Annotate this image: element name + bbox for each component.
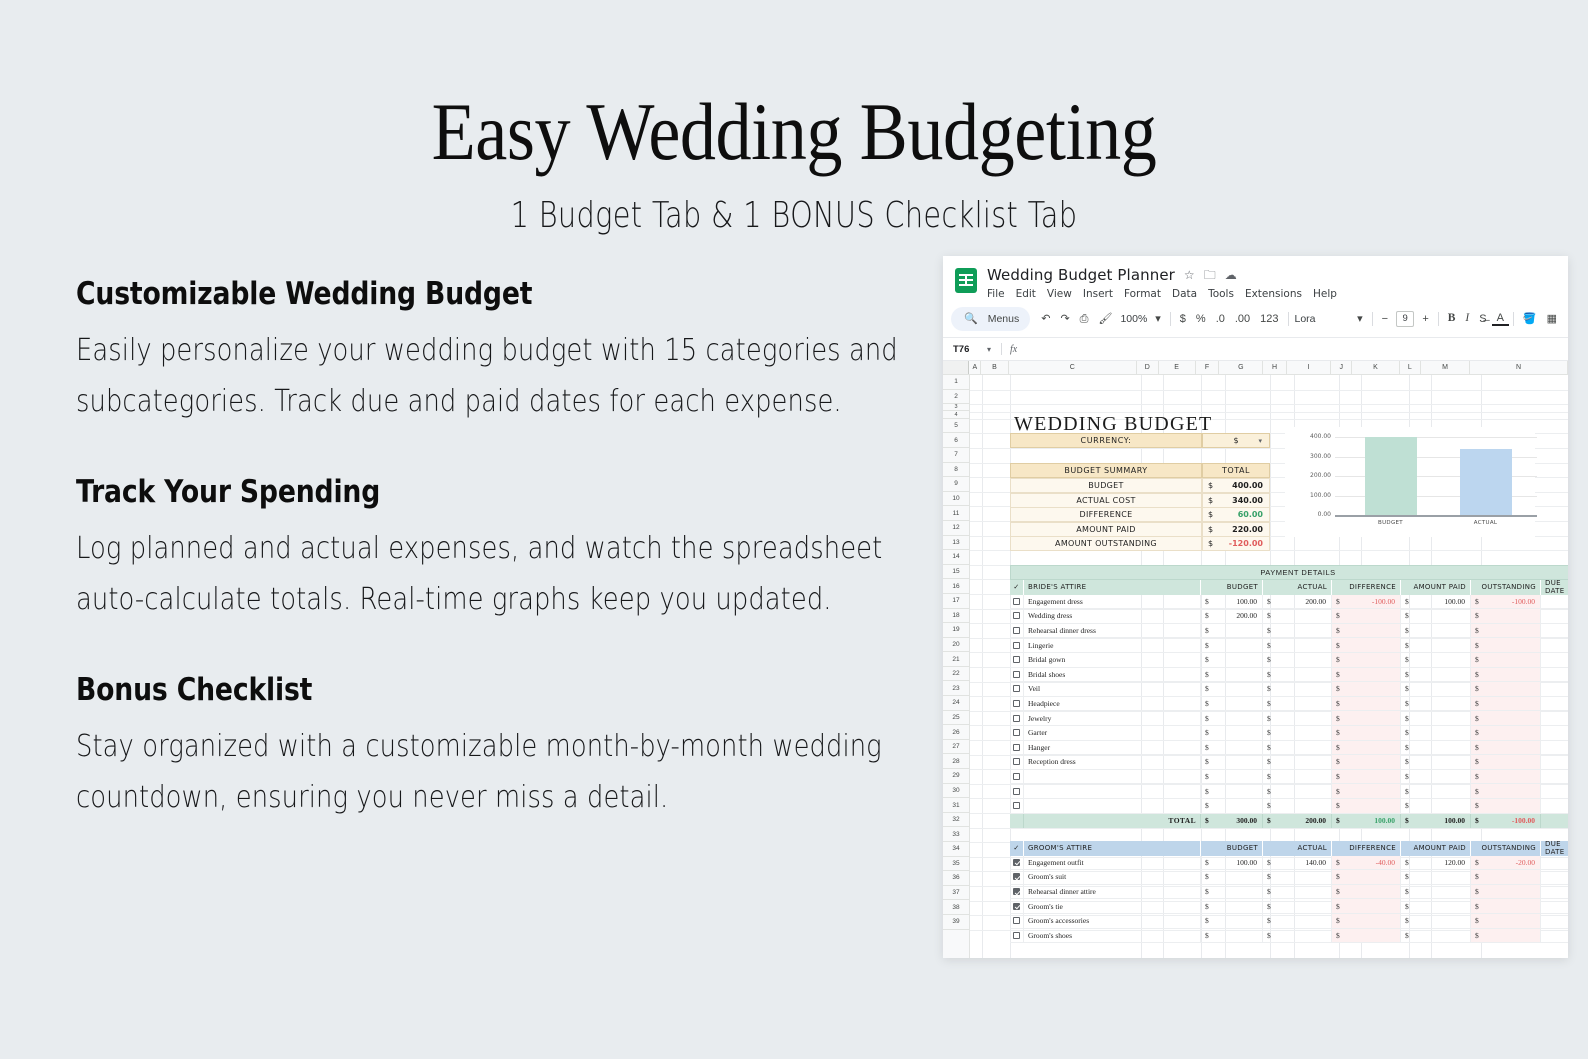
cell-difference[interactable]: $ xyxy=(1332,726,1401,740)
cell-actual[interactable]: $ xyxy=(1263,914,1332,928)
column-header-k[interactable]: K xyxy=(1352,361,1399,374)
cell-outstanding[interactable]: $ xyxy=(1471,609,1541,623)
row-header-11[interactable]: 11 xyxy=(943,506,969,521)
chevron-down-icon[interactable]: ▾ xyxy=(1352,314,1368,325)
cell-outstanding[interactable]: $ xyxy=(1471,899,1541,913)
row-header-22[interactable]: 22 xyxy=(943,667,969,682)
cell-item-name[interactable]: Rehearsal dinner attire xyxy=(1024,885,1201,899)
row-header-14[interactable]: 14 xyxy=(943,550,969,565)
cell-amount-paid[interactable]: $ xyxy=(1401,682,1471,696)
cell-due-date[interactable] xyxy=(1541,929,1568,943)
cell-item-name[interactable]: Veil xyxy=(1024,682,1201,696)
table-row[interactable]: Engagement dress$100.00$200.00$-100.00$1… xyxy=(1010,595,1568,610)
row-checkbox[interactable] xyxy=(1010,697,1024,711)
row-header-15[interactable]: 15 xyxy=(943,565,969,580)
cell-amount-paid[interactable]: $ xyxy=(1401,624,1471,638)
checkbox-icon[interactable] xyxy=(1013,758,1020,765)
table-row[interactable]: Hanger$$$$$ xyxy=(1010,741,1568,756)
cell-item-name[interactable]: Groom's suit xyxy=(1024,870,1201,884)
cell-due-date[interactable] xyxy=(1541,609,1568,623)
table-row[interactable]: Lingerie$$$$$ xyxy=(1010,638,1568,653)
cell-item-name[interactable] xyxy=(1024,784,1201,798)
cell-outstanding[interactable]: $ xyxy=(1471,770,1541,784)
cell-outstanding[interactable]: $ xyxy=(1471,885,1541,899)
row-header-32[interactable]: 32 xyxy=(943,813,969,828)
row-checkbox[interactable] xyxy=(1010,595,1024,609)
table-row[interactable]: Headpiece$$$$$ xyxy=(1010,697,1568,712)
cell-item-name[interactable]: Hanger xyxy=(1024,741,1201,755)
row-header-37[interactable]: 37 xyxy=(943,886,969,901)
row-checkbox[interactable] xyxy=(1010,770,1024,784)
cell-actual[interactable]: $200.00 xyxy=(1263,595,1332,609)
cell-item-name[interactable]: Rehearsal dinner dress xyxy=(1024,624,1201,638)
cell-amount-paid[interactable]: $ xyxy=(1401,885,1471,899)
redo-icon[interactable]: ↷ xyxy=(1055,314,1074,325)
row-checkbox[interactable] xyxy=(1010,624,1024,638)
cell-difference[interactable]: $ xyxy=(1332,899,1401,913)
row-header-31[interactable]: 31 xyxy=(943,798,969,813)
cell-outstanding[interactable]: $-20.00 xyxy=(1471,856,1541,870)
cell-item-name[interactable]: Lingerie xyxy=(1024,638,1201,652)
row-header-21[interactable]: 21 xyxy=(943,652,969,667)
currency-select[interactable]: $ ▾ xyxy=(1202,433,1270,448)
row-header-39[interactable]: 39 xyxy=(943,915,969,930)
checkbox-icon[interactable] xyxy=(1013,773,1020,780)
table-row[interactable]: Bridal gown$$$$$ xyxy=(1010,653,1568,668)
cell-amount-paid[interactable]: $ xyxy=(1401,914,1471,928)
checkbox-icon[interactable] xyxy=(1013,627,1020,634)
row-header-19[interactable]: 19 xyxy=(943,623,969,638)
cell-outstanding[interactable]: $ xyxy=(1471,638,1541,652)
move-to-folder-icon[interactable]: 🗀 xyxy=(1204,269,1216,281)
cell-actual[interactable]: $ xyxy=(1263,638,1332,652)
cell-difference[interactable]: $ xyxy=(1332,653,1401,667)
column-header-l[interactable]: L xyxy=(1400,361,1422,374)
row-header-18[interactable]: 18 xyxy=(943,609,969,624)
table-row[interactable]: Jewelry$$$$$ xyxy=(1010,711,1568,726)
cell-budget[interactable]: $ xyxy=(1201,929,1263,943)
decrease-decimal-icon[interactable]: .0 xyxy=(1211,314,1230,325)
cell-item-name[interactable]: Groom's shoes xyxy=(1024,929,1201,943)
row-header-24[interactable]: 24 xyxy=(943,696,969,711)
row-checkbox[interactable] xyxy=(1010,711,1024,725)
cell-difference[interactable]: $ xyxy=(1332,885,1401,899)
cell-budget[interactable]: $100.00 xyxy=(1201,856,1263,870)
cell-actual[interactable]: $ xyxy=(1263,770,1332,784)
borders-icon[interactable]: ▦ xyxy=(1542,314,1562,325)
cell-due-date[interactable] xyxy=(1541,899,1568,913)
cell-outstanding[interactable]: $ xyxy=(1471,929,1541,943)
cell-item-name[interactable]: Bridal gown xyxy=(1024,653,1201,667)
menu-item-file[interactable]: File xyxy=(987,288,1005,300)
cell-budget[interactable]: $100.00 xyxy=(1201,595,1263,609)
cell-actual[interactable]: $ xyxy=(1263,682,1332,696)
cell-actual[interactable]: $ xyxy=(1263,899,1332,913)
budget-vs-actual-chart[interactable]: 0.00100.00200.00300.00400.00BUDGETACTUAL xyxy=(1285,427,1535,537)
cell-amount-paid[interactable]: $ xyxy=(1401,741,1471,755)
cell-difference[interactable]: $ xyxy=(1332,755,1401,769)
table-row[interactable]: Groom's accessories$$$$$ xyxy=(1010,914,1568,929)
cell-amount-paid[interactable]: $ xyxy=(1401,711,1471,725)
cell-budget[interactable]: $ xyxy=(1201,770,1263,784)
menu-item-format[interactable]: Format xyxy=(1124,288,1161,300)
row-checkbox[interactable] xyxy=(1010,668,1024,682)
cell-due-date[interactable] xyxy=(1541,653,1568,667)
chevron-down-icon[interactable]: ▾ xyxy=(1150,314,1166,325)
row-checkbox[interactable] xyxy=(1010,638,1024,652)
table-row[interactable]: Garter$$$$$ xyxy=(1010,726,1568,741)
cell-difference[interactable]: $ xyxy=(1332,697,1401,711)
cell-actual[interactable]: $ xyxy=(1263,726,1332,740)
font-family-select[interactable]: Lora xyxy=(1292,313,1352,325)
cell-actual[interactable]: $ xyxy=(1263,653,1332,667)
cell-budget[interactable]: $ xyxy=(1201,697,1263,711)
cell-budget[interactable]: $ xyxy=(1201,624,1263,638)
table-row[interactable]: Reception dress$$$$$ xyxy=(1010,755,1568,770)
row-header-1[interactable]: 1 xyxy=(943,375,969,390)
row-checkbox[interactable] xyxy=(1010,784,1024,798)
cell-budget[interactable]: $ xyxy=(1201,755,1263,769)
paint-format-icon[interactable]: 🖌 xyxy=(1093,314,1117,325)
cell-outstanding[interactable]: $ xyxy=(1471,711,1541,725)
row-header-5[interactable]: 5 xyxy=(943,419,969,434)
percent-format-icon[interactable]: % xyxy=(1191,314,1211,325)
menu-item-insert[interactable]: Insert xyxy=(1083,288,1113,300)
strikethrough-button[interactable]: S̶ xyxy=(1474,314,1491,325)
cell-due-date[interactable] xyxy=(1541,870,1568,884)
cell-budget[interactable]: $ xyxy=(1201,870,1263,884)
table-row[interactable]: $$$$$ xyxy=(1010,784,1568,799)
checkbox-icon[interactable] xyxy=(1013,685,1020,692)
checkbox-icon[interactable] xyxy=(1013,671,1020,678)
cell-outstanding[interactable]: $-100.00 xyxy=(1471,595,1541,609)
cell-budget[interactable]: $ xyxy=(1201,741,1263,755)
increase-decimal-icon[interactable]: .00 xyxy=(1230,314,1255,325)
row-header-27[interactable]: 27 xyxy=(943,740,969,755)
row-header-17[interactable]: 17 xyxy=(943,594,969,609)
cell-item-name[interactable]: Wedding dress xyxy=(1024,609,1201,623)
cell-amount-paid[interactable]: $120.00 xyxy=(1401,856,1471,870)
checkbox-icon[interactable] xyxy=(1013,656,1020,663)
cell-outstanding[interactable]: $ xyxy=(1471,784,1541,798)
column-header-m[interactable]: M xyxy=(1421,361,1470,374)
table-row[interactable]: Groom's suit$$$$$ xyxy=(1010,870,1568,885)
star-icon[interactable]: ☆ xyxy=(1184,269,1195,281)
cell-difference[interactable]: $-40.00 xyxy=(1332,856,1401,870)
cell-difference[interactable]: $ xyxy=(1332,609,1401,623)
cell-item-name[interactable]: Groom's accessories xyxy=(1024,914,1201,928)
cell-due-date[interactable] xyxy=(1541,856,1568,870)
cell-difference[interactable]: $ xyxy=(1332,929,1401,943)
row-checkbox[interactable] xyxy=(1010,914,1024,928)
table-row[interactable]: Rehearsal dinner attire$$$$$ xyxy=(1010,885,1568,900)
column-header-j[interactable]: J xyxy=(1331,361,1353,374)
cell-due-date[interactable] xyxy=(1541,741,1568,755)
cell-actual[interactable]: $ xyxy=(1263,609,1332,623)
currency-format-icon[interactable]: $ xyxy=(1175,314,1191,325)
cell-outstanding[interactable]: $ xyxy=(1471,653,1541,667)
checkbox-icon[interactable] xyxy=(1013,873,1020,880)
column-header-b[interactable]: B xyxy=(981,361,1008,374)
cell-outstanding[interactable]: $ xyxy=(1471,682,1541,696)
cell-difference[interactable]: $ xyxy=(1332,799,1401,813)
cell-item-name[interactable] xyxy=(1024,799,1201,813)
row-header-25[interactable]: 25 xyxy=(943,711,969,726)
decrease-font-size-button[interactable]: − xyxy=(1377,314,1393,325)
cell-actual[interactable]: $ xyxy=(1263,741,1332,755)
cell-due-date[interactable] xyxy=(1541,697,1568,711)
row-checkbox[interactable] xyxy=(1010,885,1024,899)
row-checkbox[interactable] xyxy=(1010,653,1024,667)
column-header-h[interactable]: H xyxy=(1263,361,1287,374)
cell-budget[interactable]: $ xyxy=(1201,899,1263,913)
cell-amount-paid[interactable]: $ xyxy=(1401,899,1471,913)
cell-budget[interactable]: $ xyxy=(1201,784,1263,798)
checkbox-icon[interactable] xyxy=(1013,788,1020,795)
checkbox-icon[interactable] xyxy=(1013,888,1020,895)
cell-item-name[interactable]: Engagement outfit xyxy=(1024,856,1201,870)
checkbox-icon[interactable] xyxy=(1013,744,1020,751)
row-checkbox[interactable] xyxy=(1010,870,1024,884)
cell-item-name[interactable] xyxy=(1024,770,1201,784)
cell-actual[interactable]: $ xyxy=(1263,668,1332,682)
cell-item-name[interactable]: Jewelry xyxy=(1024,711,1201,725)
table-row[interactable]: Groom's tie$$$$$ xyxy=(1010,899,1568,914)
cell-budget[interactable]: $ xyxy=(1201,638,1263,652)
checkbox-icon[interactable] xyxy=(1013,729,1020,736)
cell-difference[interactable]: $ xyxy=(1332,624,1401,638)
cell-item-name[interactable]: Engagement dress xyxy=(1024,595,1201,609)
row-checkbox[interactable] xyxy=(1010,609,1024,623)
cell-budget[interactable]: $ xyxy=(1201,653,1263,667)
row-header-29[interactable]: 29 xyxy=(943,769,969,784)
cell-budget[interactable]: $ xyxy=(1201,711,1263,725)
column-header-c[interactable]: C xyxy=(1009,361,1137,374)
row-header-16[interactable]: 16 xyxy=(943,579,969,594)
cell-item-name[interactable]: Headpiece xyxy=(1024,697,1201,711)
cell-due-date[interactable] xyxy=(1541,624,1568,638)
row-header-7[interactable]: 7 xyxy=(943,448,969,463)
cell-item-name[interactable]: Garter xyxy=(1024,726,1201,740)
cell-actual[interactable]: $ xyxy=(1263,885,1332,899)
cell-due-date[interactable] xyxy=(1541,682,1568,696)
cell-budget[interactable]: $200.00 xyxy=(1201,609,1263,623)
row-header-33[interactable]: 33 xyxy=(943,827,969,842)
cell-difference[interactable]: $ xyxy=(1332,914,1401,928)
cell-due-date[interactable] xyxy=(1541,885,1568,899)
row-header-12[interactable]: 12 xyxy=(943,521,969,536)
cell-outstanding[interactable]: $ xyxy=(1471,799,1541,813)
cell-item-name[interactable]: Bridal shoes xyxy=(1024,668,1201,682)
cell-actual[interactable]: $ xyxy=(1263,697,1332,711)
table-row[interactable]: Bridal shoes$$$$$ xyxy=(1010,668,1568,683)
cell-actual[interactable]: $140.00 xyxy=(1263,856,1332,870)
cell-actual[interactable]: $ xyxy=(1263,755,1332,769)
cell-due-date[interactable] xyxy=(1541,770,1568,784)
cell-due-date[interactable] xyxy=(1541,638,1568,652)
cell-due-date[interactable] xyxy=(1541,595,1568,609)
checkbox-icon[interactable] xyxy=(1013,642,1020,649)
cell-budget[interactable]: $ xyxy=(1201,682,1263,696)
spreadsheet-grid[interactable]: A B C D E F G H I J K L M N 123456789101… xyxy=(943,361,1568,958)
cell-amount-paid[interactable]: $ xyxy=(1401,755,1471,769)
row-header-28[interactable]: 28 xyxy=(943,754,969,769)
cell-actual[interactable]: $ xyxy=(1263,870,1332,884)
cell-outstanding[interactable]: $ xyxy=(1471,624,1541,638)
row-checkbox[interactable] xyxy=(1010,799,1024,813)
checkbox-icon[interactable] xyxy=(1013,598,1020,605)
cell-budget[interactable]: $ xyxy=(1201,726,1263,740)
row-header-23[interactable]: 23 xyxy=(943,681,969,696)
menu-item-help[interactable]: Help xyxy=(1313,288,1337,300)
cell-due-date[interactable] xyxy=(1541,726,1568,740)
grid-canvas[interactable]: WEDDING BUDGET CURRENCY: $ ▾ BUDGET SUMM… xyxy=(970,375,1568,958)
cell-difference[interactable]: $ xyxy=(1332,682,1401,696)
cell-amount-paid[interactable]: $ xyxy=(1401,638,1471,652)
column-header-a[interactable]: A xyxy=(969,361,981,374)
italic-button[interactable]: I xyxy=(1460,313,1474,325)
cell-amount-paid[interactable]: $ xyxy=(1401,653,1471,667)
cell-actual[interactable]: $ xyxy=(1263,929,1332,943)
cell-outstanding[interactable]: $ xyxy=(1471,697,1541,711)
cell-amount-paid[interactable]: $ xyxy=(1401,770,1471,784)
column-header-e[interactable]: E xyxy=(1159,361,1196,374)
menus-search-button[interactable]: 🔍 Menus xyxy=(951,307,1030,331)
row-checkbox[interactable] xyxy=(1010,726,1024,740)
document-title[interactable]: Wedding Budget Planner xyxy=(987,266,1175,284)
row-header-34[interactable]: 34 xyxy=(943,842,969,857)
row-header-4[interactable]: 4 xyxy=(943,411,969,418)
undo-icon[interactable]: ↶ xyxy=(1036,314,1055,325)
print-icon[interactable]: ⎙ xyxy=(1075,314,1094,325)
checkbox-icon[interactable] xyxy=(1013,903,1020,910)
cell-budget[interactable]: $ xyxy=(1201,799,1263,813)
chevron-down-icon[interactable]: ▾ xyxy=(1258,437,1262,445)
cell-difference[interactable]: $ xyxy=(1332,741,1401,755)
cell-actual[interactable]: $ xyxy=(1263,799,1332,813)
cell-outstanding[interactable]: $ xyxy=(1471,726,1541,740)
row-checkbox[interactable] xyxy=(1010,899,1024,913)
column-header-n[interactable]: N xyxy=(1470,361,1568,374)
fill-color-icon[interactable]: 🪣 xyxy=(1518,314,1542,325)
row-header-26[interactable]: 26 xyxy=(943,725,969,740)
cell-budget[interactable]: $ xyxy=(1201,885,1263,899)
row-checkbox[interactable] xyxy=(1010,755,1024,769)
more-formats-icon[interactable]: 123 xyxy=(1255,314,1283,325)
checkbox-icon[interactable] xyxy=(1013,859,1020,866)
font-size-input[interactable]: 9 xyxy=(1396,311,1414,327)
cell-item-name[interactable]: Reception dress xyxy=(1024,755,1201,769)
column-header-g[interactable]: G xyxy=(1219,361,1263,374)
table-row[interactable]: Engagement outfit$100.00$140.00$-40.00$1… xyxy=(1010,856,1568,871)
name-box[interactable]: T76 xyxy=(953,344,987,355)
cell-difference[interactable]: $ xyxy=(1332,784,1401,798)
cloud-saved-icon[interactable]: ☁ xyxy=(1225,269,1237,281)
menu-item-tools[interactable]: Tools xyxy=(1208,288,1234,300)
menu-item-view[interactable]: View xyxy=(1047,288,1072,300)
cell-difference[interactable]: $ xyxy=(1332,638,1401,652)
cell-amount-paid[interactable]: $ xyxy=(1401,784,1471,798)
cell-outstanding[interactable]: $ xyxy=(1471,741,1541,755)
checkbox-icon[interactable] xyxy=(1013,715,1020,722)
increase-font-size-button[interactable]: + xyxy=(1417,314,1433,325)
column-header-d[interactable]: D xyxy=(1137,361,1159,374)
column-header-i[interactable]: I xyxy=(1287,361,1331,374)
row-header-3[interactable]: 3 xyxy=(943,404,969,411)
cell-due-date[interactable] xyxy=(1541,914,1568,928)
select-all-corner[interactable] xyxy=(943,361,969,374)
row-header-35[interactable]: 35 xyxy=(943,857,969,872)
text-color-button[interactable]: A xyxy=(1492,313,1509,326)
cell-budget[interactable]: $ xyxy=(1201,914,1263,928)
cell-due-date[interactable] xyxy=(1541,799,1568,813)
column-header-f[interactable]: F xyxy=(1196,361,1220,374)
row-header-2[interactable]: 2 xyxy=(943,390,969,405)
row-header-30[interactable]: 30 xyxy=(943,784,969,799)
cell-difference[interactable]: $ xyxy=(1332,770,1401,784)
chevron-down-icon[interactable]: ▾ xyxy=(987,345,991,354)
cell-actual[interactable]: $ xyxy=(1263,624,1332,638)
cell-due-date[interactable] xyxy=(1541,784,1568,798)
cell-outstanding[interactable]: $ xyxy=(1471,914,1541,928)
row-checkbox[interactable] xyxy=(1010,856,1024,870)
table-row[interactable]: $$$$$ xyxy=(1010,799,1568,814)
row-checkbox[interactable] xyxy=(1010,741,1024,755)
checkbox-icon[interactable] xyxy=(1013,802,1020,809)
cell-outstanding[interactable]: $ xyxy=(1471,755,1541,769)
bold-button[interactable]: B xyxy=(1443,313,1461,325)
row-header-20[interactable]: 20 xyxy=(943,638,969,653)
cell-amount-paid[interactable]: $ xyxy=(1401,929,1471,943)
row-checkbox[interactable] xyxy=(1010,682,1024,696)
checkbox-icon[interactable] xyxy=(1013,700,1020,707)
row-header-8[interactable]: 8 xyxy=(943,463,969,478)
zoom-level[interactable]: 100% xyxy=(1117,313,1150,325)
table-row[interactable]: Wedding dress$200.00$$$$ xyxy=(1010,609,1568,624)
cell-difference[interactable]: $-100.00 xyxy=(1332,595,1401,609)
table-row[interactable]: Veil$$$$$ xyxy=(1010,682,1568,697)
cell-difference[interactable]: $ xyxy=(1332,668,1401,682)
cell-difference[interactable]: $ xyxy=(1332,711,1401,725)
row-header-6[interactable]: 6 xyxy=(943,433,969,448)
table-row[interactable]: Rehearsal dinner dress$$$$$ xyxy=(1010,624,1568,639)
cell-difference[interactable]: $ xyxy=(1332,870,1401,884)
row-header-38[interactable]: 38 xyxy=(943,900,969,915)
cell-item-name[interactable]: Groom's tie xyxy=(1024,899,1201,913)
cell-due-date[interactable] xyxy=(1541,755,1568,769)
cell-amount-paid[interactable]: $ xyxy=(1401,668,1471,682)
row-header-10[interactable]: 10 xyxy=(943,492,969,507)
checkbox-icon[interactable] xyxy=(1013,917,1020,924)
checkbox-icon[interactable] xyxy=(1013,932,1020,939)
checkbox-icon[interactable] xyxy=(1013,612,1020,619)
menu-item-data[interactable]: Data xyxy=(1172,288,1197,300)
cell-actual[interactable]: $ xyxy=(1263,784,1332,798)
cell-amount-paid[interactable]: $ xyxy=(1401,697,1471,711)
cell-amount-paid[interactable]: $100.00 xyxy=(1401,595,1471,609)
cell-amount-paid[interactable]: $ xyxy=(1401,799,1471,813)
cell-outstanding[interactable]: $ xyxy=(1471,870,1541,884)
cell-amount-paid[interactable]: $ xyxy=(1401,726,1471,740)
row-checkbox[interactable] xyxy=(1010,929,1024,943)
menu-item-extensions[interactable]: Extensions xyxy=(1245,288,1302,300)
row-header-36[interactable]: 36 xyxy=(943,871,969,886)
row-header-9[interactable]: 9 xyxy=(943,477,969,492)
cell-budget[interactable]: $ xyxy=(1201,668,1263,682)
table-row[interactable]: Groom's shoes$$$$$ xyxy=(1010,929,1568,944)
cell-actual[interactable]: $ xyxy=(1263,711,1332,725)
menu-item-edit[interactable]: Edit xyxy=(1016,288,1036,300)
